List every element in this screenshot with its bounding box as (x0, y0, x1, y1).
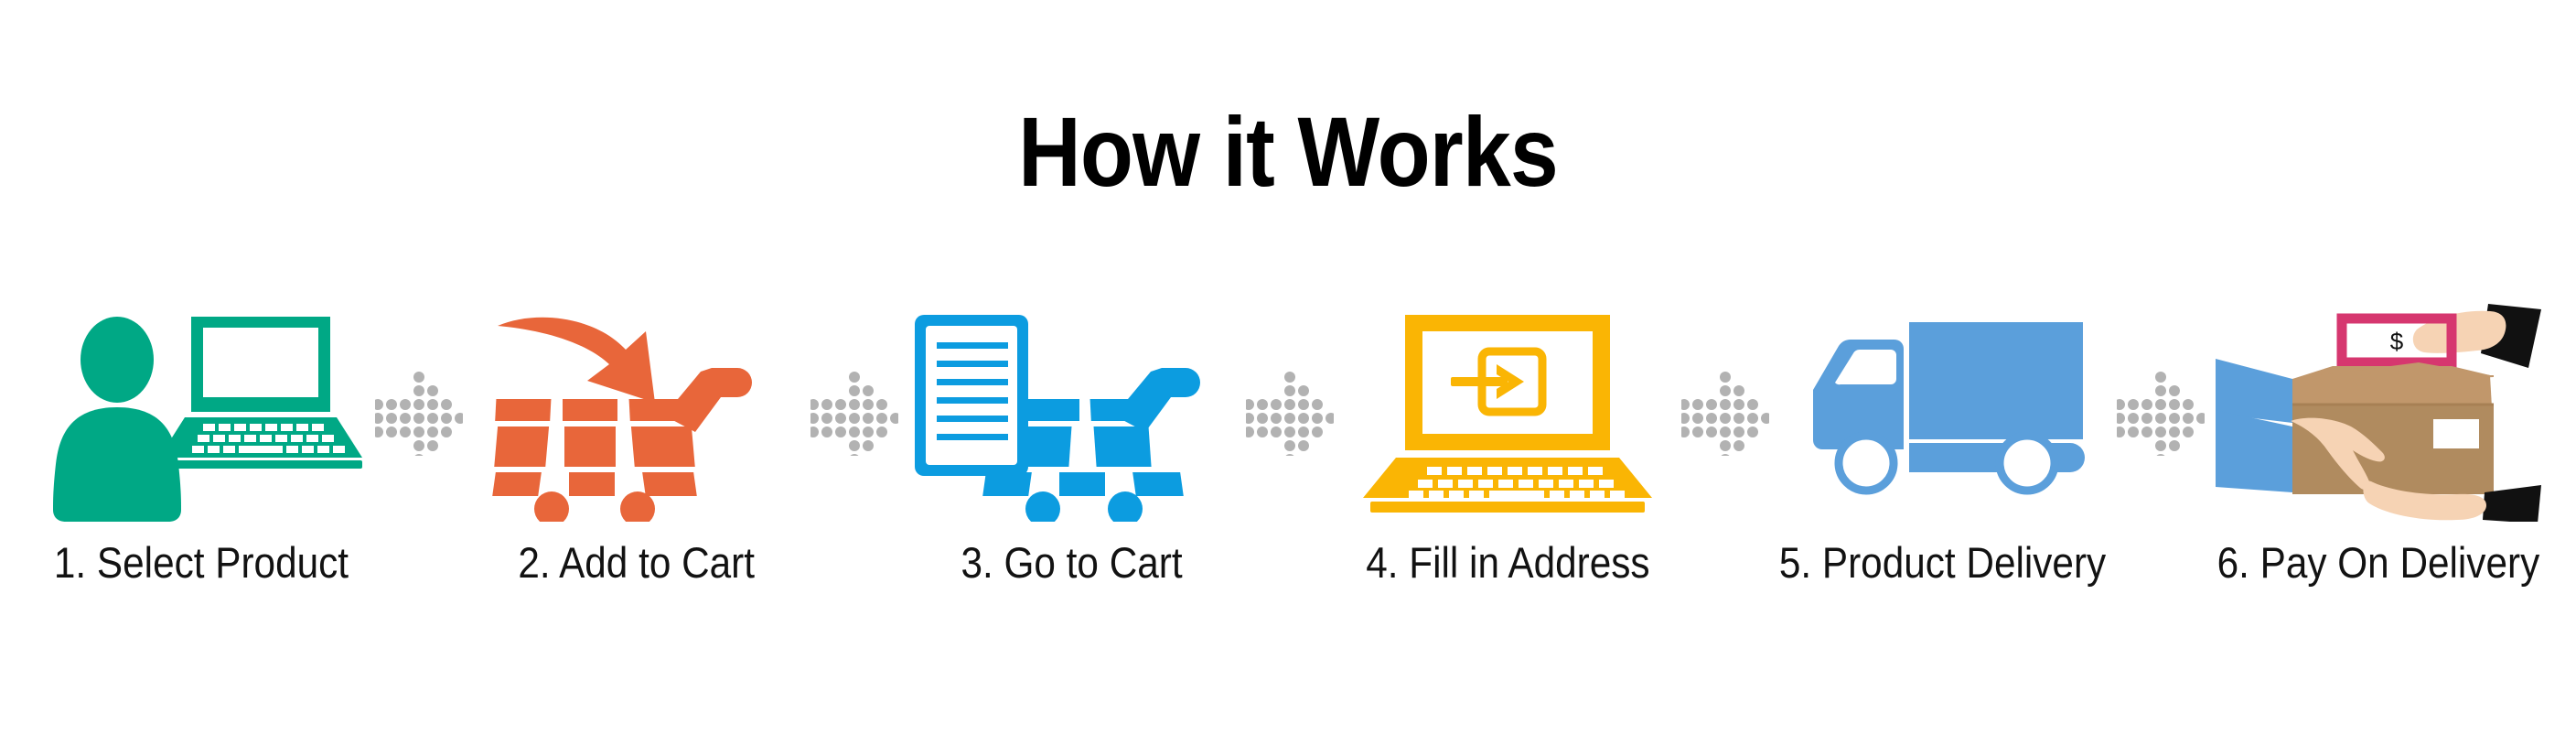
separator-2 (810, 302, 898, 522)
dotted-arrow-right-icon (375, 368, 463, 456)
hands-exchange-box-money-icon: $ (2214, 302, 2543, 522)
person-with-laptop-icon (37, 302, 366, 522)
separator-1 (375, 302, 463, 522)
delivery-truck-icon (1778, 302, 2108, 522)
sleeve-blue-lower (2216, 410, 2292, 492)
step-3-icon-stage (907, 302, 1237, 522)
step-2-add-to-cart[interactable]: 2. Add to Cart (472, 302, 801, 588)
step-2-icon-stage (472, 302, 801, 522)
step-1-icon-stage (37, 302, 366, 522)
step-5-icon-stage (1778, 302, 2108, 522)
dotted-arrow-right-icon (810, 368, 898, 456)
page-title: How it Works (155, 103, 2421, 201)
step-5-product-delivery[interactable]: 5. Product Delivery (1778, 302, 2108, 588)
separator-4 (1681, 302, 1769, 522)
document-with-cart-icon (907, 302, 1237, 522)
step-6-icon-stage: $ (2214, 302, 2543, 522)
box-label (2433, 419, 2479, 448)
step-4-fill-in-address[interactable]: 4. Fill in Address (1343, 302, 1672, 588)
step-5-label: 5. Product Delivery (1779, 538, 2106, 588)
infographic-canvas: How it Works (0, 0, 2576, 745)
step-4-label: 4. Fill in Address (1366, 538, 1649, 588)
step-1-select-product[interactable]: 1. Select Product (37, 302, 366, 588)
step-1-label: 1. Select Product (54, 538, 349, 588)
step-2-label: 2. Add to Cart (519, 538, 756, 588)
separator-3 (1246, 302, 1334, 522)
currency-symbol: $ (2390, 328, 2404, 355)
step-6-label: 6. Pay On Delivery (2217, 538, 2540, 588)
box-front (2292, 405, 2494, 494)
dotted-arrow-right-icon (2117, 368, 2205, 456)
steps-row: 1. Select Product (37, 302, 2543, 686)
cart-with-arrow-icon (472, 302, 801, 522)
dotted-arrow-right-icon (1681, 368, 1769, 456)
laptop-login-icon (1343, 302, 1672, 522)
step-3-go-to-cart[interactable]: 3. Go to Cart (907, 302, 1237, 588)
dotted-arrow-right-icon (1246, 368, 1334, 456)
step-4-icon-stage (1343, 302, 1672, 522)
step-3-label: 3. Go to Cart (961, 538, 1183, 588)
step-6-pay-on-delivery[interactable]: $ (2214, 302, 2543, 588)
separator-5 (2117, 302, 2205, 522)
